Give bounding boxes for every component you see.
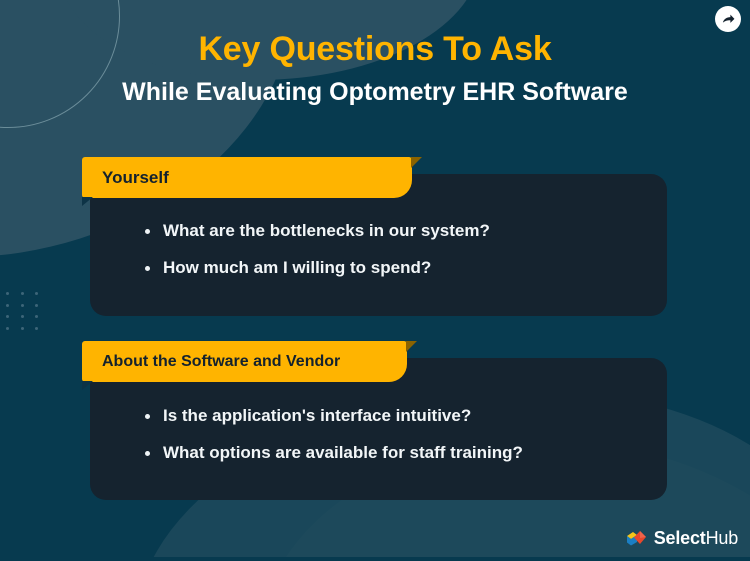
list-item: Is the application's interface intuitive…	[145, 405, 565, 428]
selecthub-logo[interactable]: SelectHub	[626, 528, 738, 549]
banner-fold-corner-icon	[411, 157, 422, 168]
list-item-label: How much am I willing to spend?	[163, 257, 431, 280]
page-subtitle: While Evaluating Optometry EHR Software	[0, 78, 750, 107]
share-arrow-icon	[721, 12, 736, 27]
list-item-label: What are the bottlenecks in our system?	[163, 220, 490, 243]
list-item: What options are available for staff tra…	[145, 442, 565, 465]
bullet-dot-icon	[145, 266, 150, 271]
section-banner-label: Yourself	[102, 168, 169, 188]
logo-name-bold: Select	[654, 528, 706, 548]
list-item-label: What options are available for staff tra…	[163, 442, 523, 465]
list-item: What are the bottlenecks in our system?	[145, 220, 565, 243]
bullet-dot-icon	[145, 229, 150, 234]
section-banner-yourself: Yourself	[82, 157, 412, 198]
header-block: Key Questions To Ask While Evaluating Op…	[0, 30, 750, 107]
list-item-label: Is the application's interface intuitive…	[163, 405, 471, 428]
page-title: Key Questions To Ask	[0, 30, 750, 69]
share-button[interactable]	[715, 6, 741, 32]
banner-fold-corner-icon	[406, 341, 417, 352]
list-item: How much am I willing to spend?	[145, 257, 565, 280]
section-banner-software-vendor: About the Software and Vendor	[82, 341, 407, 382]
question-list-software-vendor: Is the application's interface intuitive…	[145, 405, 565, 465]
section-banner-label: About the Software and Vendor	[102, 353, 340, 371]
bullet-dot-icon	[145, 451, 150, 456]
question-list-yourself: What are the bottlenecks in our system? …	[145, 220, 565, 280]
bullet-dot-icon	[145, 414, 150, 419]
logo-name-thin: Hub	[706, 528, 738, 548]
selecthub-cube-icon	[626, 529, 647, 549]
selecthub-wordmark: SelectHub	[654, 528, 738, 549]
decorative-dot-grid	[0, 288, 44, 334]
bottom-edge-bar	[0, 557, 750, 561]
slide-canvas: Key Questions To Ask While Evaluating Op…	[0, 0, 750, 561]
